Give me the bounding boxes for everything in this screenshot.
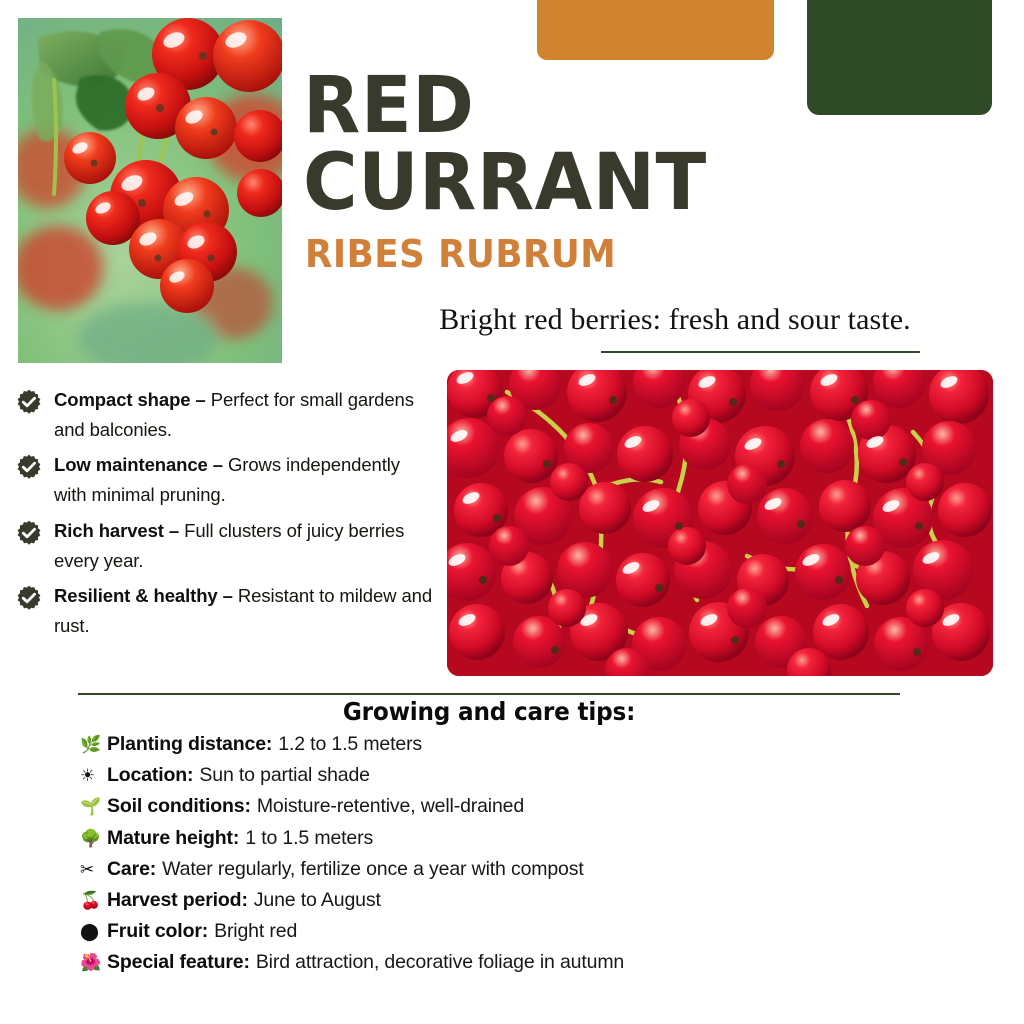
feature-dash: – <box>190 389 210 410</box>
tip-label: Location: <box>107 760 193 791</box>
tip-label: Harvest period: <box>107 885 248 916</box>
feature-dash: – <box>164 520 184 541</box>
tip-label: Soil conditions: <box>107 791 251 822</box>
tagline: Bright red berries: fresh and sour taste… <box>385 303 965 337</box>
tip-label: Planting distance: <box>107 729 272 760</box>
tree-icon: 🌳 <box>80 831 107 848</box>
feature-dash: – <box>218 585 238 606</box>
check-badge-icon <box>16 454 42 480</box>
black-circle-icon: ⬤ <box>80 924 107 941</box>
tip-value: 1 to 1.5 meters <box>245 823 373 854</box>
tip-label: Care: <box>107 854 156 885</box>
tips-heading: Growing and care tips: <box>66 697 913 726</box>
tip-value: Bright red <box>214 916 297 947</box>
feature-list: Compact shape – Perfect for small garden… <box>16 385 436 646</box>
decorative-orange-block <box>537 0 774 60</box>
scissors-icon: ✂ <box>80 862 107 879</box>
list-item: 🍒 Harvest period: June to August <box>80 885 1010 916</box>
sun-icon: ☀ <box>80 768 107 785</box>
list-item: ⬤ Fruit color: Bright red <box>80 916 1010 947</box>
tip-value: Sun to partial shade <box>199 760 369 791</box>
list-item: 🌿 Planting distance: 1.2 to 1.5 meters <box>80 729 1010 760</box>
feature-dash: – <box>208 454 228 475</box>
tip-value: June to August <box>254 885 381 916</box>
list-item: ☀ Location: Sun to partial shade <box>80 760 1010 791</box>
list-item: 🌳 Mature height: 1 to 1.5 meters <box>80 823 1010 854</box>
list-item: Low maintenance – Grows independently wi… <box>16 450 436 510</box>
tip-value: 1.2 to 1.5 meters <box>278 729 422 760</box>
red-currants-on-branch-photo <box>18 18 282 363</box>
tip-label: Fruit color: <box>107 916 208 947</box>
tip-label: Mature height: <box>107 823 239 854</box>
herb-icon: 🌿 <box>80 737 107 754</box>
list-item: Rich harvest – Full clusters of juicy be… <box>16 516 436 576</box>
feature-label: Resilient & healthy <box>54 585 218 606</box>
tip-value: Moisture-retentive, well-drained <box>257 791 524 822</box>
feature-label: Compact shape <box>54 389 190 410</box>
check-badge-icon <box>16 585 42 611</box>
hibiscus-icon: 🌺 <box>80 955 107 972</box>
feature-label: Rich harvest <box>54 520 164 541</box>
list-item: Compact shape – Perfect for small garden… <box>16 385 436 445</box>
botanical-name-subtitle: RIBES RUBRUM <box>305 232 616 276</box>
seedling-icon: 🌱 <box>80 799 107 816</box>
list-item: Resilient & healthy – Resistant to milde… <box>16 581 436 641</box>
pile-of-red-currants-photo <box>447 370 993 676</box>
list-item: 🌱 Soil conditions: Moisture-retentive, w… <box>80 791 1010 822</box>
title-line-2: CURRANT <box>303 145 960 222</box>
list-item: 🌺 Special feature: Bird attraction, deco… <box>80 947 1010 978</box>
tip-label: Special feature: <box>107 947 250 978</box>
list-item: ✂ Care: Water regularly, fertilize once … <box>80 854 1010 885</box>
tips-divider <box>78 693 900 695</box>
check-badge-icon <box>16 389 42 415</box>
cherries-icon: 🍒 <box>80 893 107 910</box>
tip-value: Bird attraction, decorative foliage in a… <box>256 947 624 978</box>
tip-value: Water regularly, fertilize once a year w… <box>162 854 584 885</box>
feature-label: Low maintenance <box>54 454 208 475</box>
tips-list: 🌿 Planting distance: 1.2 to 1.5 meters ☀… <box>80 729 1010 979</box>
check-badge-icon <box>16 520 42 546</box>
tagline-divider <box>601 351 920 353</box>
page-title: RED CURRANT <box>303 68 960 222</box>
